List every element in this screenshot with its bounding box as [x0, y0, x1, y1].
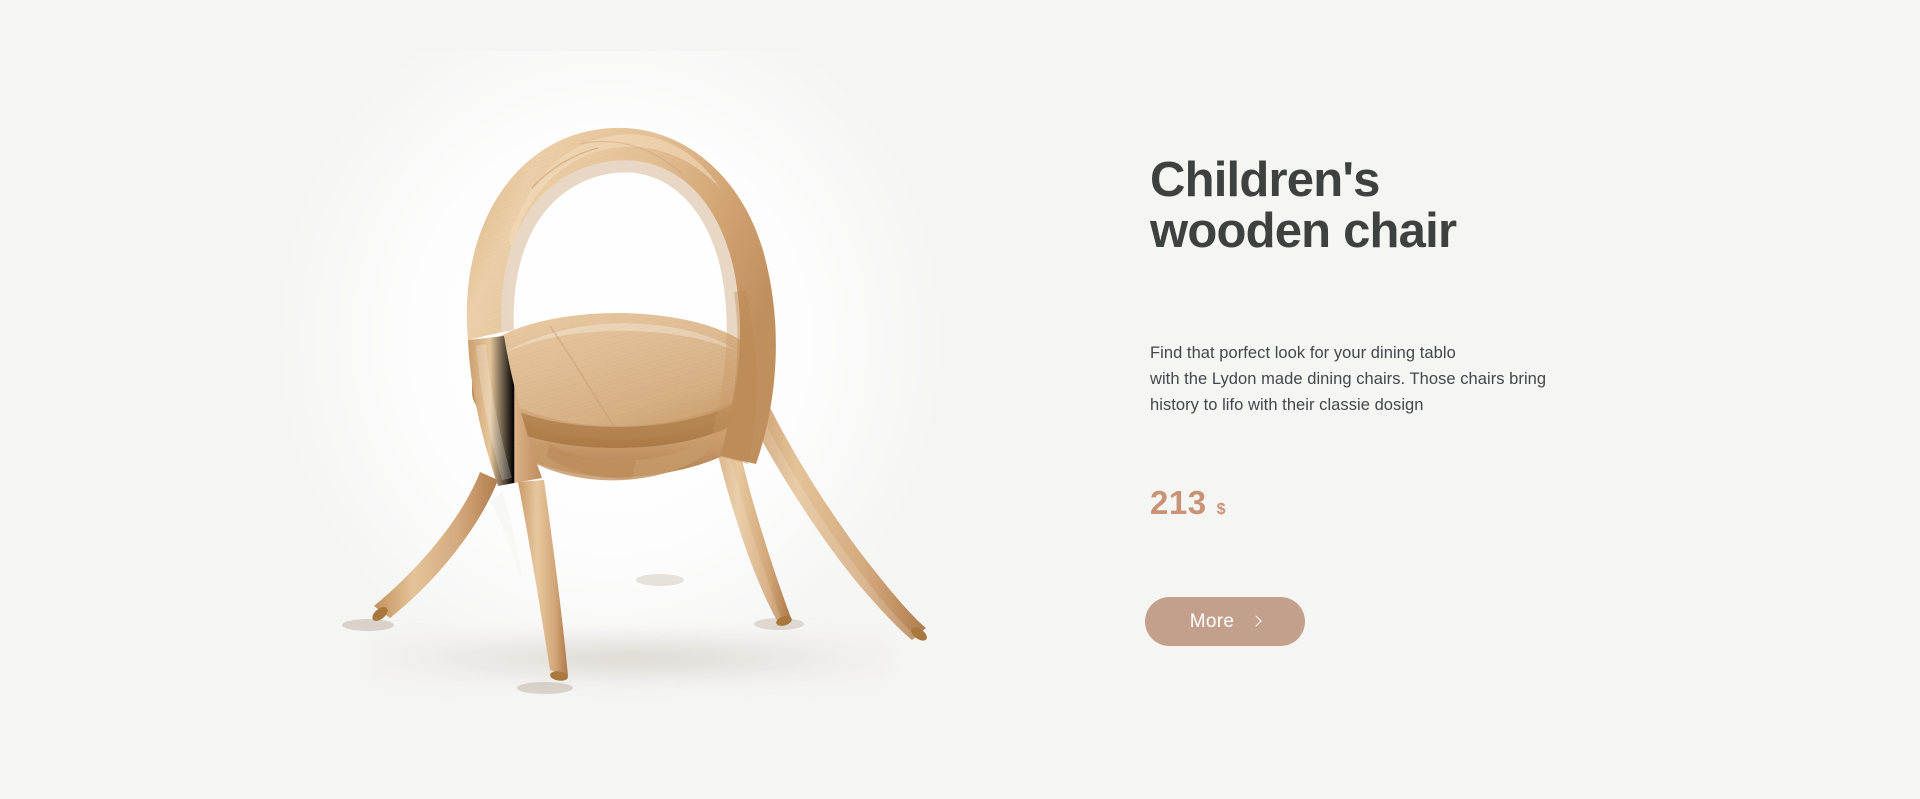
price-block: 213 $ [1150, 484, 1225, 522]
product-info-panel: Children's wooden chair Find that porfec… [1150, 0, 1770, 799]
more-button[interactable]: More [1145, 597, 1305, 646]
product-image-container [250, 40, 970, 760]
chevron-right-icon [1251, 615, 1262, 626]
page-title: Children's wooden chair [1150, 155, 1710, 258]
product-hero-section: Children's wooden chair Find that porfec… [0, 0, 1920, 799]
price-currency: $ [1217, 501, 1226, 519]
more-button-label: More [1190, 611, 1235, 633]
product-description: Find that porfect look for your dining t… [1150, 340, 1650, 418]
wooden-chair-photo [250, 40, 970, 760]
price-value: 213 [1150, 484, 1207, 522]
